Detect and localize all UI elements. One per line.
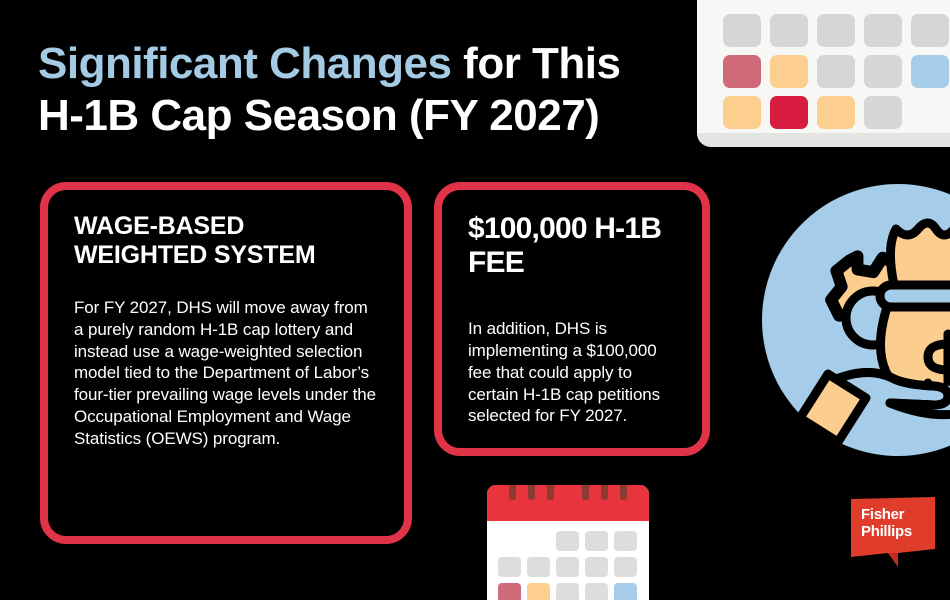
calendar-cell (723, 96, 761, 129)
card-content: $100,000 H-1B FEE In addition, DHS is im… (442, 190, 702, 427)
calendar-cell (817, 55, 855, 88)
calendar-cell (911, 55, 949, 88)
calendar-cell (498, 557, 521, 577)
calendar-base-strip (697, 133, 950, 147)
infographic-canvas: Significant Changes for This H-1B Cap Se… (0, 0, 950, 600)
card-heading: WAGE-BASED WEIGHTED SYSTEM (74, 212, 378, 269)
card-body: In addition, DHS is implementing a $100,… (468, 318, 676, 427)
card-wage-based-weighted-system: WAGE-BASED WEIGHTED SYSTEM For FY 2027, … (40, 182, 412, 544)
page-title: Significant Changes for This H-1B Cap Se… (38, 38, 678, 142)
calendar-cell (585, 557, 608, 577)
calendar-ring-icon (509, 485, 516, 500)
calendar-bottom (487, 485, 649, 600)
fisher-phillips-logo[interactable]: Fisher Phillips (851, 497, 935, 569)
calendar-top-right (697, 0, 950, 147)
logo-line-1: Fisher (861, 506, 912, 523)
calendar-top-grid (723, 14, 950, 137)
card-heading: $100,000 H-1B FEE (468, 212, 676, 280)
calendar-ring-icon (601, 485, 608, 500)
calendar-cell (527, 557, 550, 577)
calendar-ring-icon (528, 485, 535, 500)
calendar-cell (614, 583, 637, 600)
calendar-cell (864, 96, 902, 129)
calendar-ring-icon (547, 485, 554, 500)
logo-line-2: Phillips (861, 523, 912, 540)
calendar-cell (556, 557, 579, 577)
calendar-cell (723, 55, 761, 88)
calendar-cell (527, 531, 550, 551)
card-h1b-fee: $100,000 H-1B FEE In addition, DHS is im… (434, 182, 710, 456)
title-line-1: Significant Changes for This (38, 38, 678, 90)
calendar-cell (817, 14, 855, 47)
calendar-cell (585, 531, 608, 551)
card-body: For FY 2027, DHS will move away from a p… (74, 297, 378, 449)
calendar-cell (911, 14, 949, 47)
calendar-cell (614, 557, 637, 577)
calendar-cell (614, 531, 637, 551)
calendar-cell (556, 531, 579, 551)
hand-holding-money-bag-with-gear-icon (762, 184, 950, 456)
title-rest-text: for This (451, 39, 620, 88)
title-accent-text: Significant Changes (38, 39, 451, 88)
calendar-cell (723, 14, 761, 47)
logo-text: Fisher Phillips (861, 506, 912, 540)
calendar-cell (770, 55, 808, 88)
calendar-bottom-grid (498, 531, 643, 600)
calendar-cell (911, 96, 949, 129)
calendar-cell (770, 14, 808, 47)
calendar-cell (585, 583, 608, 600)
calendar-cell (556, 583, 579, 600)
calendar-cell (817, 96, 855, 129)
title-line-2: H-1B Cap Season (FY 2027) (38, 90, 678, 142)
calendar-cell (770, 96, 808, 129)
calendar-cell (498, 583, 521, 600)
calendar-ring-icon (582, 485, 589, 500)
calendar-cell (498, 531, 521, 551)
calendar-ring-icon (620, 485, 627, 500)
calendar-cell (864, 55, 902, 88)
calendar-cell (527, 583, 550, 600)
calendar-cell (864, 14, 902, 47)
card-content: WAGE-BASED WEIGHTED SYSTEM For FY 2027, … (48, 190, 404, 449)
